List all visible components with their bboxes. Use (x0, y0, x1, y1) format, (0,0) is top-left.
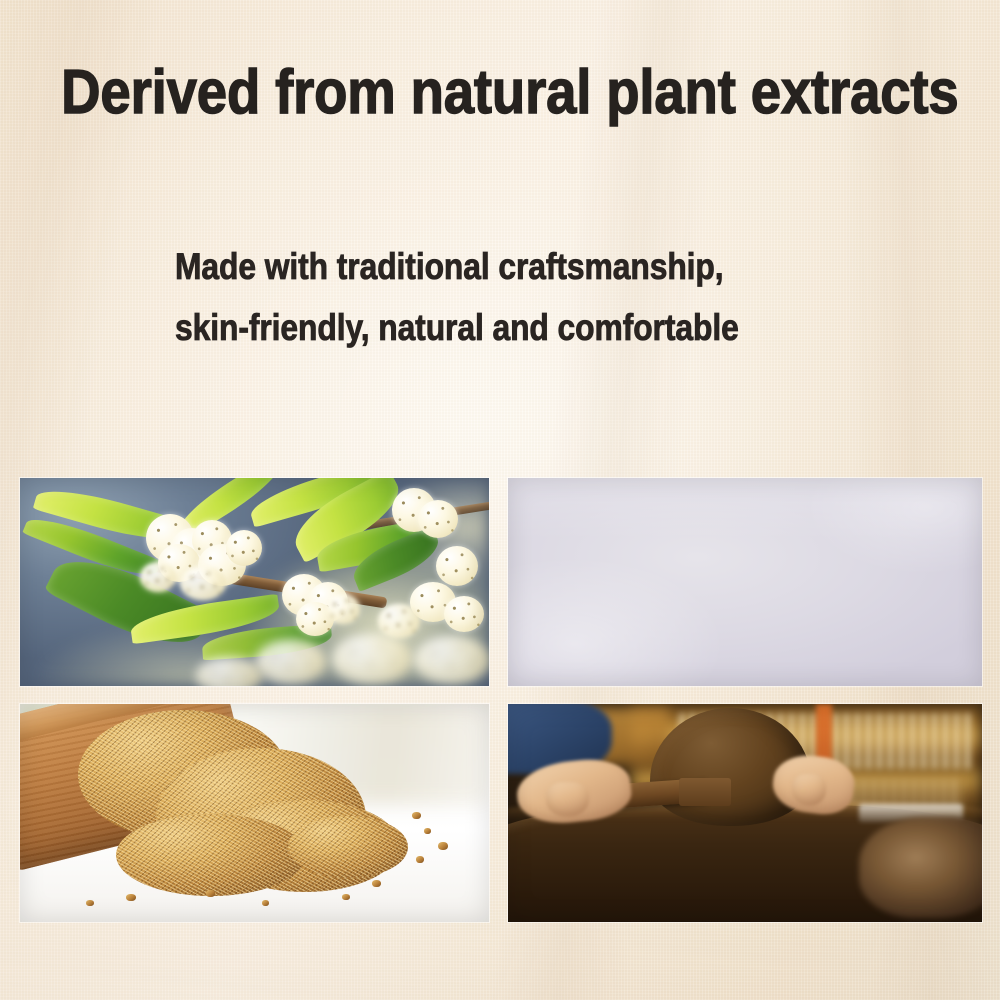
photo-osmanthus-florets (508, 478, 982, 686)
photo-osmanthus-branch (20, 478, 489, 686)
flower-cluster (140, 562, 176, 592)
flower-crumb (342, 894, 350, 900)
flower-crumb (416, 856, 424, 863)
subhead-line-2: skin-friendly, natural and comfortable (175, 297, 794, 358)
page-title: Derived from natural plant extracts (61, 62, 958, 124)
photo-stone-grinder-workshop (508, 704, 982, 922)
floret (697, 563, 721, 583)
flower-crumb (412, 812, 421, 819)
flower-cluster (414, 636, 489, 684)
dried-flower-pile (288, 816, 408, 878)
flower-cluster (326, 594, 360, 624)
headline-block: Derived from natural plant extracts (0, 62, 1000, 124)
flower-cluster (378, 604, 420, 638)
flower-cluster (444, 596, 484, 632)
flower-crumb (372, 880, 381, 887)
flower-cluster (332, 634, 412, 684)
floret (689, 525, 713, 546)
ground-herbs (859, 817, 982, 917)
floret (819, 573, 848, 598)
flower-crumb (262, 900, 269, 906)
flower-crumb (438, 842, 448, 850)
photo-dried-osmanthus-scoop (20, 704, 489, 922)
flower-cluster (226, 530, 262, 566)
flower-crumb (206, 890, 215, 897)
flower-cluster (418, 500, 458, 538)
subhead-block: Made with traditional craftsmanship, ski… (175, 236, 895, 358)
hand-left-finger (546, 782, 589, 817)
flower-cluster (196, 658, 262, 686)
flower-cluster (256, 640, 326, 684)
hand-right-finger (792, 774, 825, 807)
flower-crumb (126, 894, 136, 901)
grinder-handle-hub (679, 778, 731, 806)
flower-crumb (86, 900, 94, 906)
dried-flower-pile (116, 814, 306, 896)
flower-cluster (180, 566, 226, 600)
product-banner: Derived from natural plant extracts Made… (0, 0, 1000, 1000)
flower-cluster (436, 546, 478, 586)
subhead-line-1: Made with traditional craftsmanship, (175, 236, 794, 297)
flower-crumb (424, 828, 431, 834)
